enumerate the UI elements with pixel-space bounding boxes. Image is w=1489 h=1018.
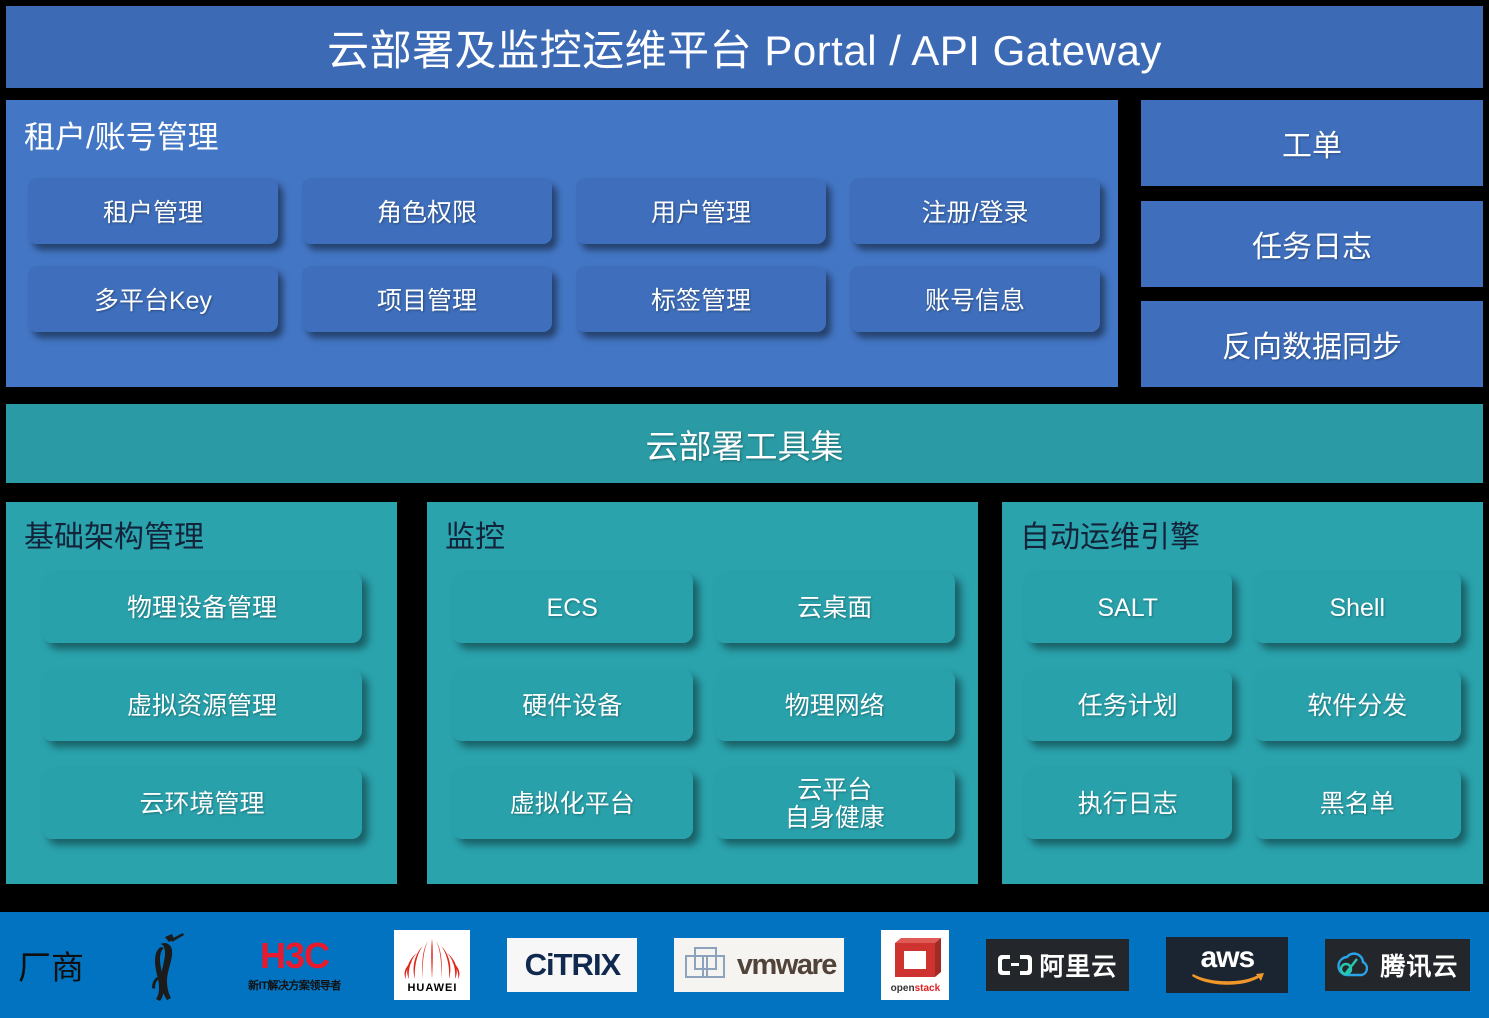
- tenant-button-project-management[interactable]: 项目管理: [302, 266, 552, 332]
- tenant-button-register-login[interactable]: 注册/登录: [850, 178, 1100, 244]
- automation-button-grid: SALT Shell 任务计划 软件分发 执行日志 黑名单: [1024, 572, 1461, 839]
- auto-button-shell[interactable]: Shell: [1254, 572, 1462, 643]
- infrastructure-management-panel: 基础架构管理 物理设备管理 虚拟资源管理 云环境管理: [6, 502, 397, 884]
- tenant-account-management-panel: 租户/账号管理 租户管理 角色权限 用户管理 注册/登录 多平台Key 项目管理…: [6, 100, 1118, 387]
- vmware-squares-icon: [683, 943, 729, 987]
- toolset-band-title: 云部署工具集: [646, 420, 844, 468]
- openstack-cube-icon: [889, 937, 941, 983]
- aliyun-logo: 阿里云: [986, 939, 1129, 991]
- openstack-logo-wordmark: openstack: [891, 983, 940, 994]
- auto-button-software-distribution[interactable]: 软件分发: [1254, 670, 1462, 741]
- tenant-button-tag-management[interactable]: 标签管理: [576, 266, 826, 332]
- vendor-logo-bar: 厂商 H3C 新IT解决方案领导者: [0, 912, 1489, 1018]
- vendor-logo-list: H3C 新IT解决方案领导者: [120, 929, 1489, 1001]
- aws-logo-wordmark: aws: [1201, 944, 1255, 971]
- auto-button-blacklist[interactable]: 黑名单: [1254, 768, 1462, 839]
- aliyun-logo-wordmark: 阿里云: [1039, 947, 1117, 983]
- huawei-logo-wordmark: HUAWEI: [407, 982, 457, 994]
- card-reverse-data-sync[interactable]: 反向数据同步: [1141, 301, 1483, 387]
- automation-panel-title: 自动运维引擎: [1020, 512, 1483, 556]
- right-side-card-column: 工单 任务日志 反向数据同步: [1141, 100, 1483, 387]
- h3c-logo-wordmark: H3C: [260, 938, 329, 974]
- monitor-button-cloud-platform-self-health[interactable]: 云平台自身健康: [715, 768, 956, 839]
- openstack-logo: openstack: [881, 930, 949, 1000]
- tenant-button-grid: 租户管理 角色权限 用户管理 注册/登录 多平台Key 项目管理 标签管理 账号…: [28, 178, 1098, 332]
- tenant-panel-title: 租户/账号管理: [24, 112, 1118, 157]
- monitor-button-cloud-desktop[interactable]: 云桌面: [715, 572, 956, 643]
- monitor-button-hardware-device[interactable]: 硬件设备: [452, 670, 693, 741]
- monitoring-button-grid: ECS 云桌面 硬件设备 物理网络 虚拟化平台 云平台自身健康: [452, 572, 955, 839]
- platform-header-band: 云部署及监控运维平台 Portal / API Gateway: [6, 6, 1483, 88]
- page-title: 云部署及监控运维平台 Portal / API Gateway: [327, 17, 1162, 78]
- tenant-button-role-permission[interactable]: 角色权限: [302, 178, 552, 244]
- aws-logo: aws: [1166, 937, 1288, 993]
- auto-button-salt[interactable]: SALT: [1024, 572, 1232, 643]
- diagram-root: 云部署及监控运维平台 Portal / API Gateway 租户/账号管理 …: [0, 0, 1489, 1018]
- citrix-logo: CiTRIX: [507, 938, 637, 992]
- monitoring-panel-title: 监控: [445, 512, 978, 556]
- huawei-logo: HUAWEI: [394, 930, 470, 1000]
- cloud-deployment-toolset-band: 云部署工具集: [6, 404, 1483, 483]
- tencent-cloud-icon: [1337, 951, 1373, 979]
- auto-button-task-schedule[interactable]: 任务计划: [1024, 670, 1232, 741]
- tenant-button-account-info[interactable]: 账号信息: [850, 266, 1100, 332]
- aliyun-bracket-icon: [998, 952, 1032, 978]
- h3c-logo-tagline: 新IT解决方案领导者: [248, 977, 341, 993]
- monitor-button-ecs[interactable]: ECS: [452, 572, 693, 643]
- tencentcloud-logo-wordmark: 腾讯云: [1380, 947, 1458, 983]
- infra-button-cloud-environment-management[interactable]: 云环境管理: [42, 768, 362, 839]
- infrastructure-button-grid: 物理设备管理 虚拟资源管理 云环境管理: [42, 572, 362, 839]
- infra-button-physical-device-management[interactable]: 物理设备管理: [42, 572, 362, 643]
- card-work-order[interactable]: 工单: [1141, 100, 1483, 186]
- infra-button-virtual-resource-management[interactable]: 虚拟资源管理: [42, 670, 362, 741]
- vmware-logo-wordmark: vmware: [737, 949, 836, 982]
- tenant-button-multiplatform-key[interactable]: 多平台Key: [28, 266, 278, 332]
- tencentcloud-logo: 腾讯云: [1325, 939, 1470, 991]
- vendor-bar-label: 厂商: [18, 941, 84, 989]
- h3c-logo: H3C 新IT解决方案领导者: [231, 933, 357, 997]
- automation-ops-engine-panel: 自动运维引擎 SALT Shell 任务计划 软件分发 执行日志 黑名单: [1002, 502, 1483, 884]
- aws-smile-arrow-icon: [1190, 971, 1264, 987]
- inspur-logo: [138, 929, 194, 1001]
- auto-button-execution-log[interactable]: 执行日志: [1024, 768, 1232, 839]
- citrix-logo-wordmark: CiTRIX: [525, 947, 621, 983]
- monitor-button-virtualization-platform[interactable]: 虚拟化平台: [452, 768, 693, 839]
- monitoring-panel: 监控 ECS 云桌面 硬件设备 物理网络 虚拟化平台 云平台自身健康: [427, 502, 978, 884]
- tenant-button-tenant-management[interactable]: 租户管理: [28, 178, 278, 244]
- card-task-log[interactable]: 任务日志: [1141, 201, 1483, 287]
- monitor-button-physical-network[interactable]: 物理网络: [715, 670, 956, 741]
- infrastructure-panel-title: 基础架构管理: [24, 512, 397, 556]
- vmware-logo: vmware: [674, 938, 844, 992]
- tenant-button-user-management[interactable]: 用户管理: [576, 178, 826, 244]
